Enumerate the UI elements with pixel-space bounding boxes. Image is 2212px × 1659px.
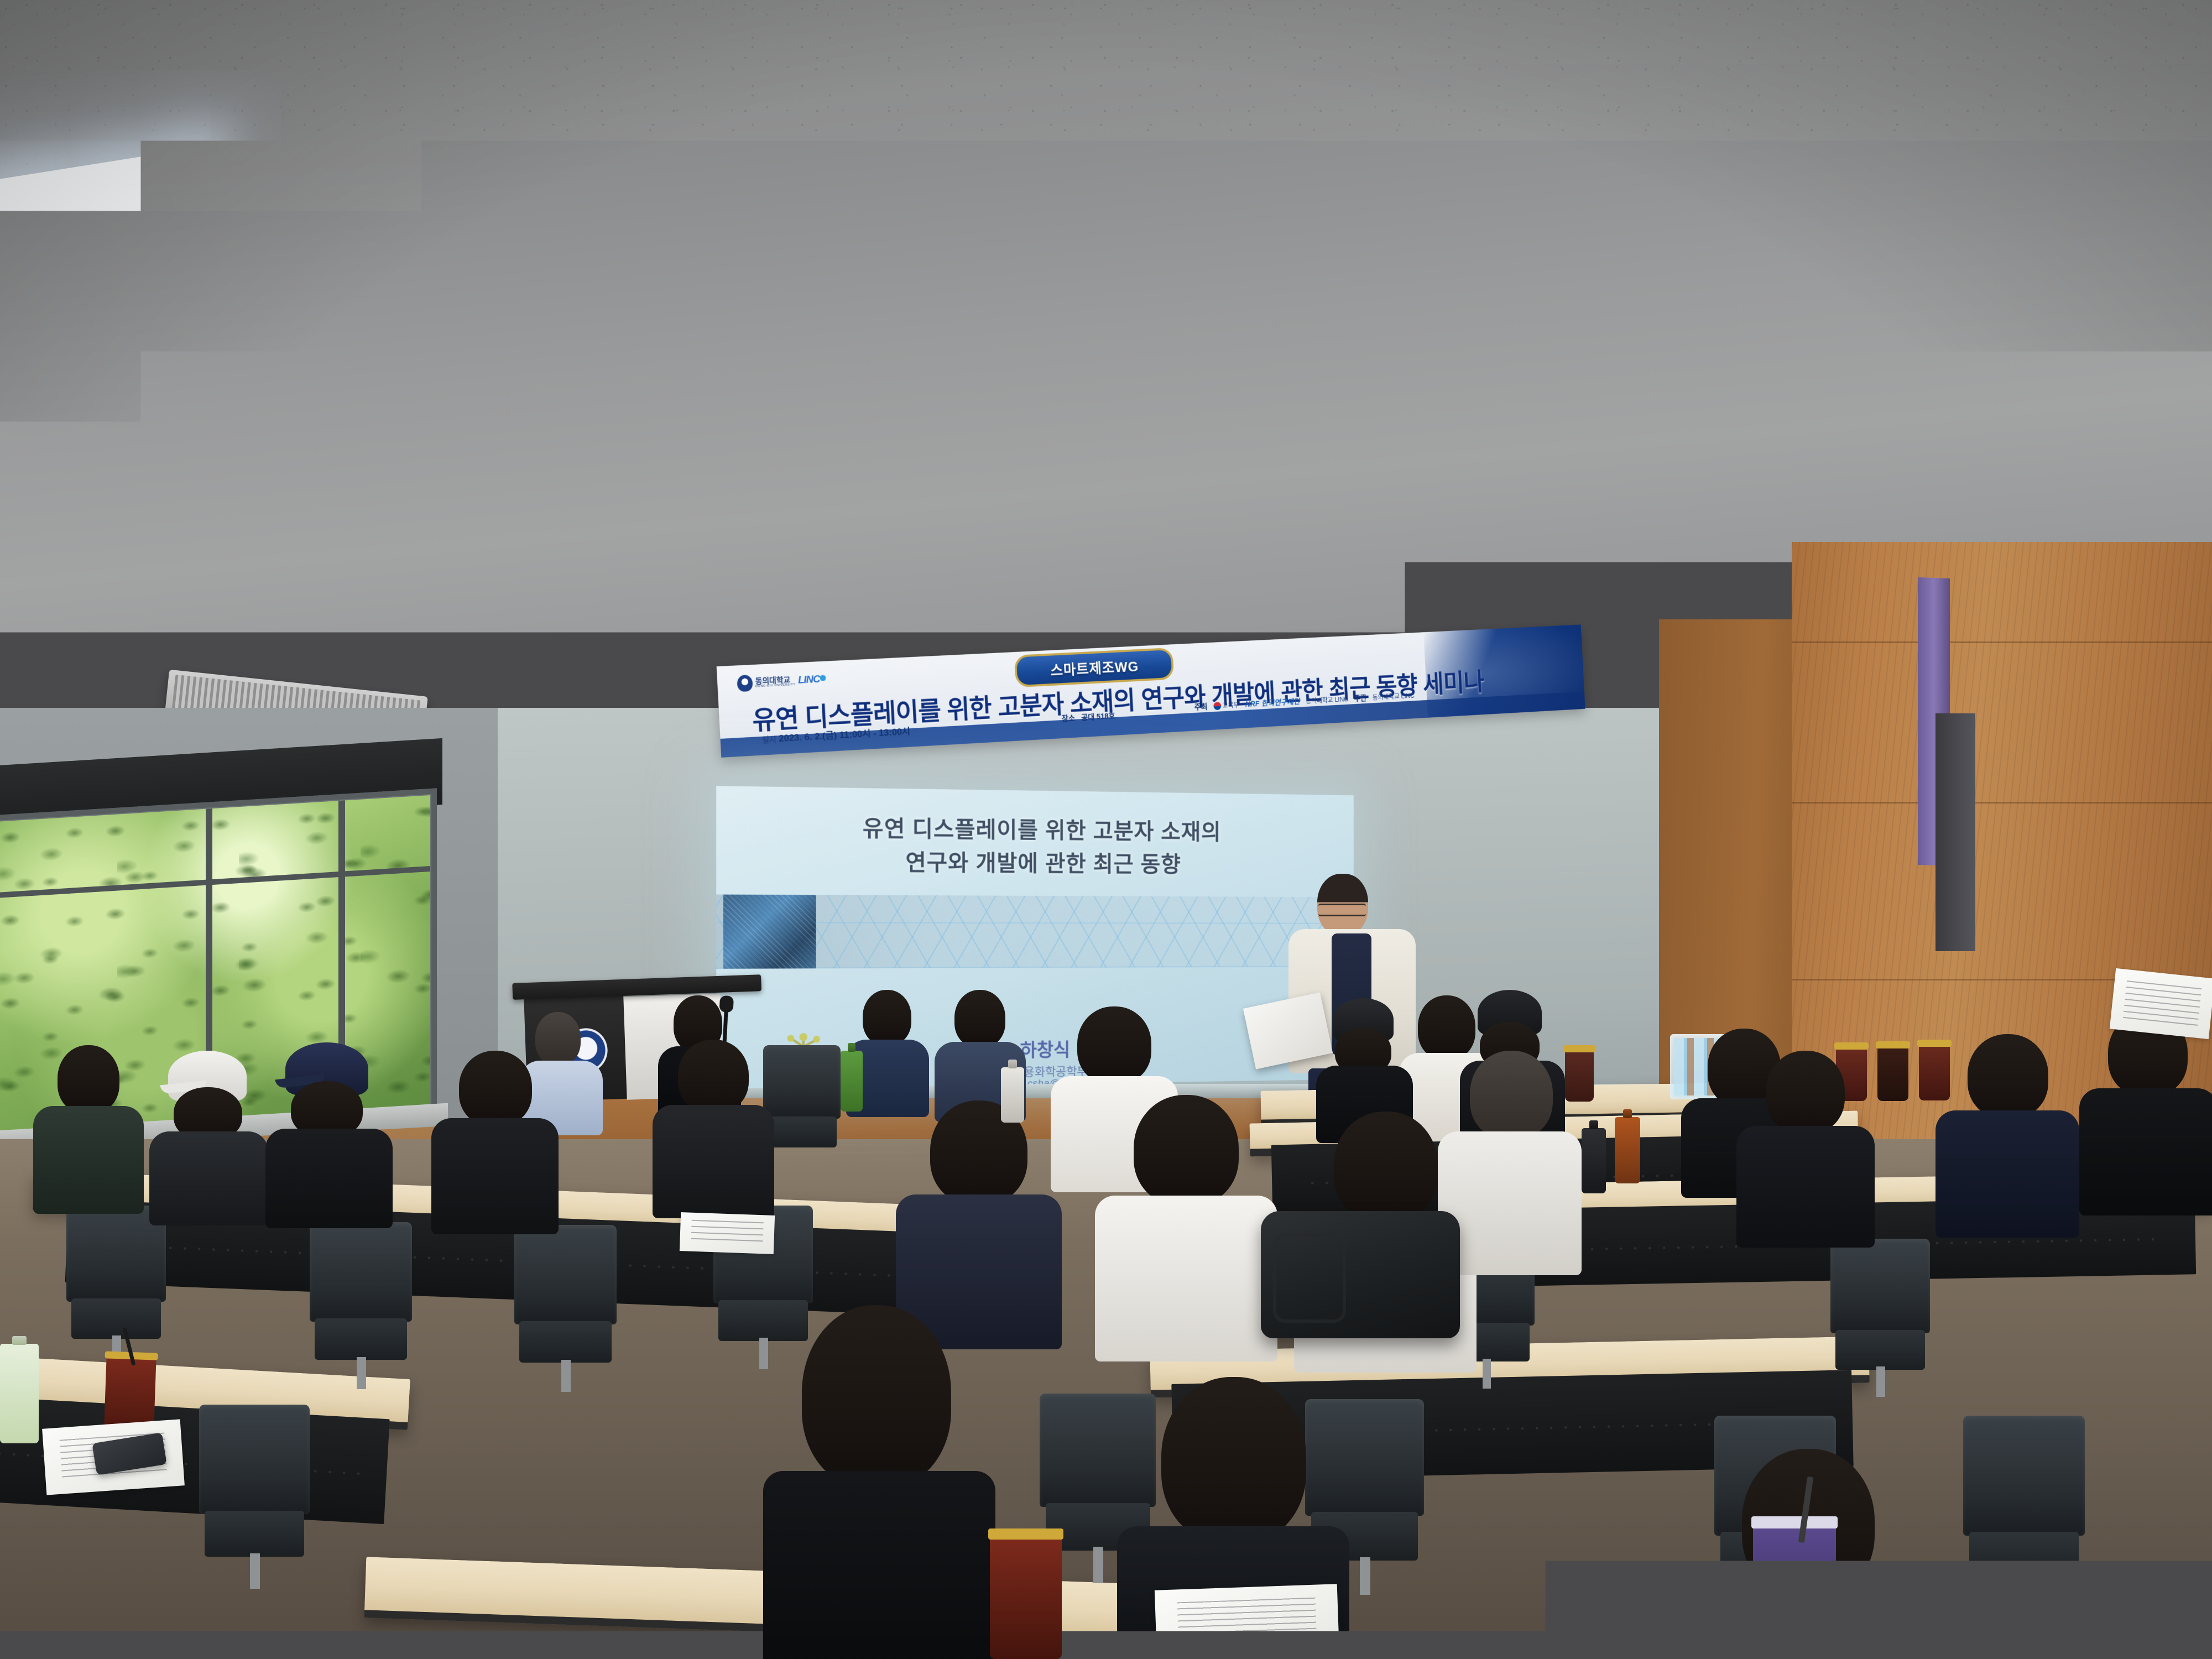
cup-lid	[988, 1528, 1063, 1540]
chair	[310, 1222, 412, 1383]
backpack	[1261, 1211, 1460, 1338]
host-university: 동의대학교 LINC	[1306, 694, 1348, 705]
attendee	[653, 1040, 774, 1217]
slide-title-line2: 연구와 개발에 관한 최근 동향	[716, 846, 1354, 881]
chair	[763, 1045, 841, 1164]
door-edge	[1936, 713, 1975, 951]
barista-rules-cup	[990, 1537, 1062, 1659]
linc-dot-icon	[820, 675, 826, 681]
attendee-with-cap	[149, 1051, 268, 1222]
banner-university-logo: 동의대학교 DONG-EUI UNIVERSITY LINC	[737, 671, 826, 692]
tumbler	[1582, 1128, 1606, 1193]
handout-paper	[2110, 968, 2212, 1039]
eyeglasses-icon	[1318, 904, 1366, 916]
korea-flag-icon	[1213, 702, 1221, 710]
chair	[66, 1206, 166, 1360]
host-ministry: 교육부	[1213, 700, 1239, 711]
organizer-university: 동의대학교 LINC	[1372, 691, 1414, 702]
linc-logo: LINC	[797, 673, 826, 686]
ceiling-sensor	[1700, 582, 1762, 617]
organizer-label: 주관	[1354, 692, 1367, 703]
cup-lid	[1876, 1041, 1910, 1048]
handout-paper	[680, 1212, 775, 1254]
iced-drink-cup	[1753, 1526, 1836, 1659]
slide-title-line1: 유연 디스플레이를 위한 고분자 소재의	[716, 811, 1354, 849]
date-label: 일시	[762, 734, 776, 744]
attendee-alonemaster-shirt	[1936, 1034, 2079, 1233]
drink-bottle	[1615, 1117, 1640, 1183]
seminar-room-photo: 동의대학교 DONG-EUI UNIVERSITY LINC 스마트제조WG 유…	[0, 0, 2212, 1659]
attendee	[33, 1045, 144, 1211]
attendee	[431, 1051, 559, 1233]
drink-bottle	[841, 1051, 863, 1112]
place-label: 장소	[1061, 712, 1075, 724]
cup-lid	[1834, 1042, 1869, 1050]
attendee-foreground	[763, 1305, 995, 1659]
host-label: 주최	[1194, 701, 1208, 712]
attendee	[2079, 1012, 2212, 1211]
drink-bottle	[1001, 1067, 1024, 1123]
attendee-with-cap	[265, 1042, 393, 1225]
university-crest-icon	[737, 675, 753, 692]
place-value: 공대 518호	[1081, 710, 1115, 723]
handout-paper	[1155, 1584, 1339, 1659]
attendee-front	[1095, 1095, 1277, 1355]
cup-lid	[1751, 1516, 1838, 1528]
iced-drink-cup	[1877, 1047, 1908, 1101]
chair	[1963, 1416, 2085, 1609]
chair	[514, 1225, 617, 1385]
slide-photo	[723, 895, 816, 969]
green-plum-drink-bottle	[0, 1344, 39, 1443]
chair	[1830, 1239, 1930, 1391]
attendee	[1736, 1051, 1875, 1244]
chair	[199, 1405, 310, 1582]
